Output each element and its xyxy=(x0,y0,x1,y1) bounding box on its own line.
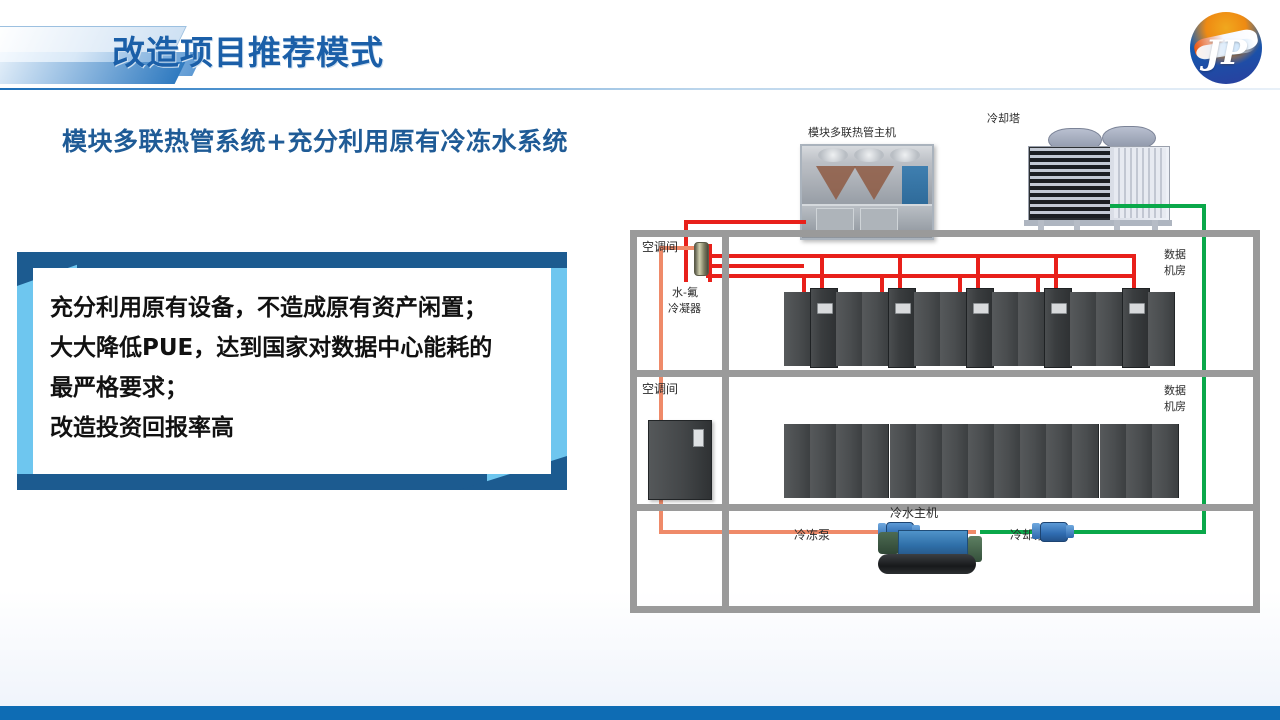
label-chilled-water-pump: 冷冻泵 xyxy=(794,528,830,542)
pipe-salmon-bottom-run xyxy=(659,530,883,534)
building-wall-left xyxy=(630,230,637,613)
slide-header: 改造项目推荐模式 xyxy=(0,0,1280,96)
callout-line-3: 最严格要求； xyxy=(50,368,547,408)
chiller-blue-casing xyxy=(898,530,968,556)
hp-unit-coil-1 xyxy=(816,166,856,200)
water-fluorine-condenser-unit xyxy=(694,242,709,276)
pump-flange-left xyxy=(1032,523,1040,539)
server-rack xyxy=(890,424,917,498)
pipe-red-drop-b xyxy=(880,274,884,294)
label-ac-room-1: 空调间 xyxy=(642,240,678,254)
rack-group-3 xyxy=(940,292,1018,366)
callout-text-block: 充分利用原有设备，不造成原有资产闲置； 大大降低PUE，达到国家对数据中心能耗的… xyxy=(50,288,547,448)
pipe-red-branch-1 xyxy=(820,254,824,290)
hp-unit-fan-2 xyxy=(854,148,884,162)
rack-group-1 xyxy=(784,292,862,366)
hp-unit-blue-panel xyxy=(902,166,928,206)
label-heat-pipe-unit: 模块多联热管主机 xyxy=(808,126,896,140)
cooling-water-pump-image xyxy=(1032,520,1074,544)
pipe-green-riser xyxy=(1202,204,1206,534)
callout-line-1: 充分利用原有设备，不造成原有资产闲置； xyxy=(50,288,547,328)
server-rack xyxy=(992,292,1019,366)
system-schematic-diagram: 模块多联热管主机 冷却塔 xyxy=(612,108,1260,620)
benefits-callout-box: 充分利用原有设备，不造成原有资产闲置； 大大降低PUE，达到国家对数据中心能耗的… xyxy=(17,252,567,490)
pipe-red-to-unit xyxy=(684,220,806,224)
rack-group-4 xyxy=(1018,292,1096,366)
server-rack xyxy=(836,292,863,366)
label-data-room-1-line-1: 数据 xyxy=(1164,248,1186,262)
section-subtitle: 模块多联热管系统+充分利用原有冷冻水系统 xyxy=(62,122,568,158)
pipe-green-to-tower xyxy=(1110,204,1206,208)
footer-accent-bar xyxy=(0,706,1280,720)
label-condenser-line-2: 冷凝器 xyxy=(668,302,701,316)
hp-unit-fan-1 xyxy=(818,148,848,162)
cooling-tower-image xyxy=(1022,124,1174,236)
pump-body xyxy=(1040,522,1068,542)
server-rack xyxy=(784,292,811,366)
server-rack xyxy=(942,424,969,498)
header-divider-rule xyxy=(0,88,1280,90)
server-rack xyxy=(862,292,889,366)
pipe-red-branch-2 xyxy=(898,254,902,290)
server-rack xyxy=(784,424,811,498)
server-rack xyxy=(810,424,837,498)
heat-pipe-main-unit-image xyxy=(800,144,934,240)
crac-display-panel xyxy=(895,303,911,314)
label-chiller: 冷水主机 xyxy=(890,506,938,520)
crac-display-panel xyxy=(1051,303,1067,314)
server-rack xyxy=(1096,292,1123,366)
pipe-red-header-lower xyxy=(706,274,1136,278)
pipe-red-header-upper xyxy=(706,254,1136,258)
large-crac-display xyxy=(693,429,704,447)
server-rack xyxy=(916,424,943,498)
crac-display-panel xyxy=(973,303,989,314)
server-rack xyxy=(968,424,995,498)
label-data-room-2-line-1: 数据 xyxy=(1164,384,1186,398)
server-rack xyxy=(836,424,863,498)
server-rack xyxy=(994,424,1021,498)
rack-row-floor-2 xyxy=(784,424,1164,498)
server-rack xyxy=(1126,424,1153,498)
label-data-room-1-line-2: 机房 xyxy=(1164,264,1186,278)
logo-monogram: JP xyxy=(1190,36,1262,70)
crac-unit xyxy=(1122,288,1150,368)
server-rack xyxy=(1100,424,1127,498)
slide-canvas: 改造项目推荐模式 JP 模块多联热管系统+充分利用原有冷冻水系统 充分利用原有设… xyxy=(0,0,1280,720)
label-cooling-tower: 冷却塔 xyxy=(987,112,1020,126)
callout-frame-bottom-dark xyxy=(17,474,487,490)
hp-unit-fan-3 xyxy=(890,148,920,162)
crac-display-panel xyxy=(1129,303,1145,314)
server-rack xyxy=(1020,424,1047,498)
server-rack xyxy=(1072,424,1099,498)
building-partition-floor-1 xyxy=(722,230,729,377)
building-partition-floor-2 xyxy=(722,370,729,511)
label-ac-room-2: 空调间 xyxy=(642,382,678,396)
crac-unit xyxy=(810,288,838,368)
label-condenser-line-1: 水-氟 xyxy=(672,286,698,300)
chiller-compressor-motor xyxy=(878,532,900,554)
server-rack xyxy=(1018,292,1045,366)
pipe-red-drop-c xyxy=(958,274,962,294)
rack-group-2 xyxy=(862,292,940,366)
crac-unit xyxy=(966,288,994,368)
server-rack xyxy=(940,292,967,366)
server-rack xyxy=(1046,424,1073,498)
company-logo: JP xyxy=(1190,12,1262,84)
cooling-tower-sill xyxy=(1024,220,1172,226)
crac-unit xyxy=(1044,288,1072,368)
label-data-room-2-line-2: 机房 xyxy=(1164,400,1186,414)
building-partition-floor-3 xyxy=(722,504,729,613)
large-crac-unit xyxy=(648,420,712,500)
building-wall-right xyxy=(1253,230,1260,613)
rack-group-5 xyxy=(1096,292,1174,366)
pipe-red-drop-d xyxy=(1036,274,1040,294)
server-rack xyxy=(862,424,889,498)
server-rack xyxy=(1148,292,1175,366)
callout-line-2: 大大降低PUE，达到国家对数据中心能耗的 xyxy=(50,328,547,368)
hp-unit-coil-2 xyxy=(854,166,894,200)
pipe-red-branch-4 xyxy=(1054,254,1058,290)
pump-flange-right xyxy=(1066,525,1074,538)
callout-frame-top-dark xyxy=(77,252,567,268)
server-rack xyxy=(914,292,941,366)
callout-line-4: 改造投资回报率高 xyxy=(50,408,547,448)
chiller-evaporator-shell xyxy=(878,554,976,574)
cooling-tower-louvers xyxy=(1030,148,1110,218)
pipe-red-branch-3 xyxy=(976,254,980,290)
page-title: 改造项目推荐模式 xyxy=(112,26,384,74)
crac-unit xyxy=(888,288,916,368)
pipe-green-pump-to-riser xyxy=(1070,530,1206,534)
server-rack xyxy=(1070,292,1097,366)
pipe-red-drop-a xyxy=(802,274,806,294)
water-chiller-image xyxy=(874,528,982,580)
crac-display-panel xyxy=(817,303,833,314)
server-rack xyxy=(1152,424,1179,498)
